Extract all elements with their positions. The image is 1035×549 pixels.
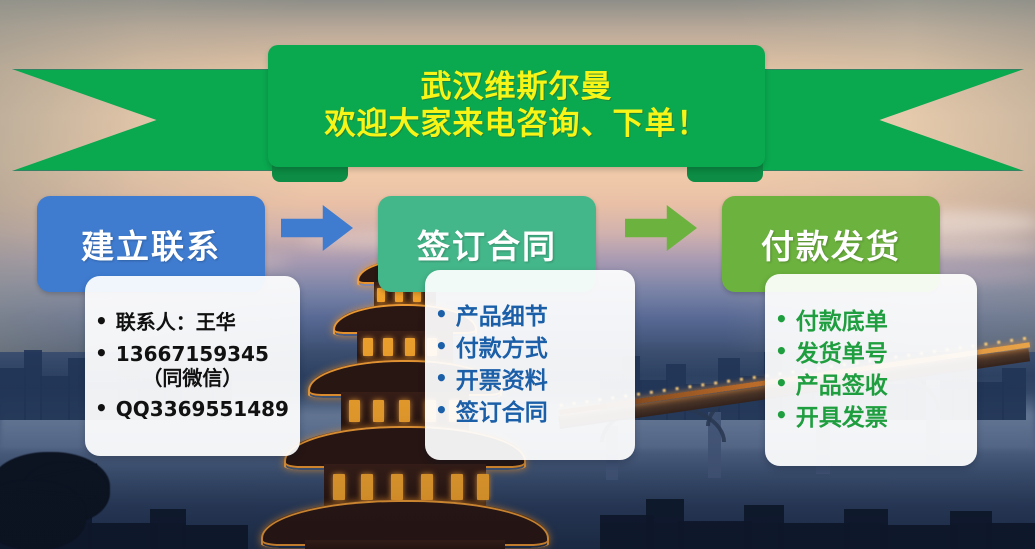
list-item: • 13667159345 （同微信） bbox=[95, 342, 296, 391]
step2-item-1: 付款方式 bbox=[456, 335, 548, 363]
step1-item-1: 13667159345 bbox=[116, 342, 269, 366]
step3-title: 付款发货 bbox=[761, 220, 901, 268]
list-item: • QQ3369551489 bbox=[95, 397, 296, 421]
list-item: • 产品签收 bbox=[775, 372, 973, 400]
bullet-icon: • bbox=[95, 342, 108, 365]
step2-details-panel: • 产品细节 • 付款方式 • 开票资料 • 签订合同 bbox=[425, 270, 635, 460]
list-item: • 联系人：王华 bbox=[95, 310, 296, 334]
step3-bullet-list: • 付款底单 • 发货单号 • 产品签收 • 开具发票 bbox=[775, 304, 973, 436]
poster-stage: 武汉维斯尔曼 欢迎大家来电咨询、下单！ 建立联系 • 联系人：王华 • 1366… bbox=[0, 0, 1035, 549]
bullet-icon: • bbox=[95, 397, 108, 420]
company-name: 武汉维斯尔曼 bbox=[421, 70, 613, 105]
bullet-icon: • bbox=[435, 367, 448, 390]
step1-item-1-sub: （同微信） bbox=[116, 366, 269, 390]
step1-bullet-list: • 联系人：王华 • 13667159345 （同微信） • QQ3369551… bbox=[95, 303, 296, 429]
list-item: • 发货单号 bbox=[775, 340, 973, 368]
arrow-right-icon-step1-to-step2 bbox=[281, 205, 353, 251]
bullet-icon: • bbox=[775, 372, 788, 395]
list-item: • 开票资料 bbox=[435, 367, 631, 395]
step2-title: 签订合同 bbox=[417, 220, 557, 268]
step3-item-0: 付款底单 bbox=[796, 308, 888, 336]
step1-details-panel: • 联系人：王华 • 13667159345 （同微信） • QQ3369551… bbox=[85, 276, 300, 456]
step3-item-1: 发货单号 bbox=[796, 340, 888, 368]
bullet-icon: • bbox=[95, 310, 108, 333]
step3-details-panel: • 付款底单 • 发货单号 • 产品签收 • 开具发票 bbox=[765, 274, 977, 466]
step3-item-2: 产品签收 bbox=[796, 372, 888, 400]
bullet-icon: • bbox=[435, 335, 448, 358]
step2-item-0: 产品细节 bbox=[456, 303, 548, 331]
ribbon-plaque: 武汉维斯尔曼 欢迎大家来电咨询、下单！ bbox=[268, 45, 765, 167]
step2-item-3: 签订合同 bbox=[456, 399, 548, 427]
list-item: • 产品细节 bbox=[435, 303, 631, 331]
arrow-right-icon-step2-to-step3 bbox=[625, 205, 697, 251]
bullet-icon: • bbox=[775, 404, 788, 427]
step1-item-2: QQ3369551489 bbox=[116, 397, 289, 421]
bullet-icon: • bbox=[775, 308, 788, 331]
bullet-icon: • bbox=[435, 399, 448, 422]
list-item: • 付款方式 bbox=[435, 335, 631, 363]
bullet-icon: • bbox=[775, 340, 788, 363]
step2-item-2: 开票资料 bbox=[456, 367, 548, 395]
list-item: • 签订合同 bbox=[435, 399, 631, 427]
step2-bullet-list: • 产品细节 • 付款方式 • 开票资料 • 签订合同 bbox=[435, 299, 631, 431]
step1-title: 建立联系 bbox=[81, 220, 221, 268]
list-item: • 付款底单 bbox=[775, 308, 973, 336]
bullet-icon: • bbox=[435, 303, 448, 326]
list-item: • 开具发票 bbox=[775, 404, 973, 432]
ribbon-banner: 武汉维斯尔曼 欢迎大家来电咨询、下单！ bbox=[0, 0, 1035, 190]
ribbon-subtitle: 欢迎大家来电咨询、下单！ bbox=[325, 107, 709, 142]
step1-item-0: 联系人：王华 bbox=[116, 310, 236, 334]
step3-item-3: 开具发票 bbox=[796, 404, 888, 432]
